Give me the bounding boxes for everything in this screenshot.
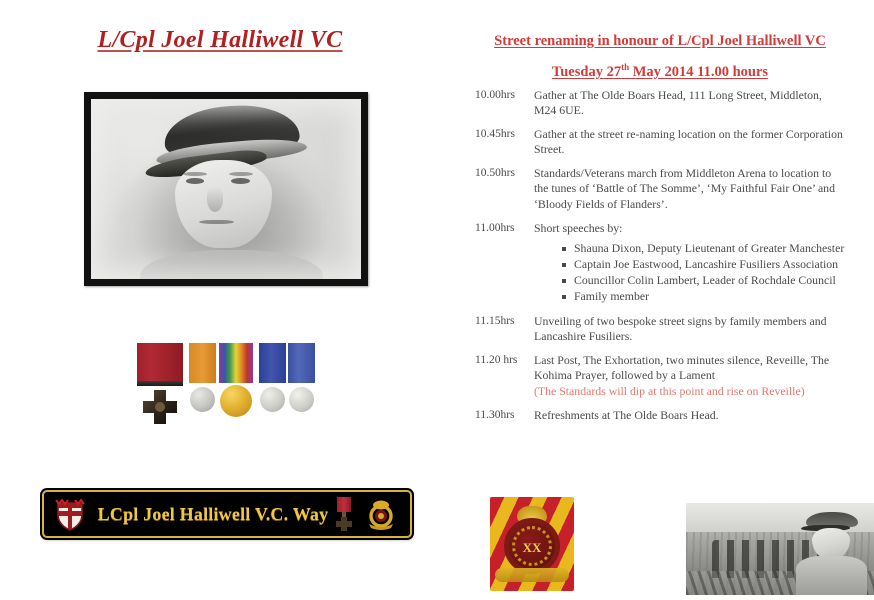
medal-disc	[190, 387, 215, 412]
left-column: L/Cpl Joel Halliwell VC	[0, 0, 460, 600]
photo-vignette	[91, 99, 361, 279]
street-sign: LCpl Joel Halliwell V.C. Way	[42, 490, 412, 538]
event-schedule: 10.00hrs Gather at The Olde Boars Head, …	[475, 88, 847, 432]
schedule-description: Gather at The Olde Boars Head, 111 Long …	[534, 88, 847, 118]
event-date-ordinal-suffix: th	[621, 62, 629, 72]
schedule-description: Refreshments at The Olde Boars Head.	[534, 408, 847, 423]
schedule-description: Short speeches by:	[534, 221, 622, 235]
page-title: L/Cpl Joel Halliwell VC	[0, 27, 440, 54]
vc-centre-shape	[155, 402, 165, 412]
street-sign-label: LCpl Joel Halliwell V.C. Way	[87, 504, 333, 525]
regiment-number-xx: XX	[490, 540, 574, 556]
middleton-coat-of-arms-icon	[53, 497, 87, 531]
medal-ribbon	[259, 343, 286, 383]
medal-disc	[260, 387, 285, 412]
soldier-face-shape	[812, 528, 850, 560]
medal-ribbon	[189, 343, 216, 383]
schedule-description-block: Short speeches by: Shauna Dixon, Deputy …	[534, 221, 847, 305]
right-column: Street renaming in honour of L/Cpl Joel …	[470, 0, 874, 600]
schedule-time: 10.00hrs	[475, 88, 534, 118]
victoria-cross-icon	[333, 496, 355, 532]
schedule-row: 11.30hrs Refreshments at The Olde Boars …	[475, 408, 847, 423]
vc-ribbon-icon	[337, 497, 351, 512]
vc-suspension-bar	[137, 381, 183, 386]
portrait-photo-frame	[84, 92, 368, 286]
portrait-photograph	[91, 99, 361, 279]
schedule-row-speeches: 11.00hrs Short speeches by: Shauna Dixon…	[475, 221, 847, 305]
scroll-banner-shape	[495, 568, 569, 582]
vc-cross-icon	[336, 517, 352, 531]
schedule-time: 10.45hrs	[475, 127, 534, 157]
schedule-time: 10.50hrs	[475, 166, 534, 211]
event-heading-primary: Street renaming in honour of L/Cpl Joel …	[470, 33, 850, 50]
list-item: Family member	[562, 289, 847, 304]
schedule-time: 11.15hrs	[475, 314, 534, 344]
schedule-row: 10.00hrs Gather at The Olde Boars Head, …	[475, 88, 847, 118]
event-heading-date: Tuesday 27th May 2014 11.00 hours	[470, 62, 850, 81]
medal-ribbon	[288, 343, 315, 383]
lancashire-fusiliers-badge-image: XX	[490, 497, 574, 591]
lancashire-fusiliers-badge-icon	[365, 498, 397, 530]
soldier-body-shape	[796, 556, 867, 595]
schedule-description: Gather at the street re-naming location …	[534, 127, 847, 157]
medal-group	[137, 343, 315, 450]
schedule-row-ceremony: 11.20 hrs Last Post, The Exhortation, tw…	[475, 353, 847, 398]
schedule-description: Standards/Veterans march from Middleton …	[534, 166, 847, 211]
event-date-suffix: May 2014 11.00 hours	[629, 64, 768, 80]
list-item: Captain Joe Eastwood, Lancashire Fusilie…	[562, 257, 847, 272]
schedule-row: 11.15hrs Unveiling of two bespoke street…	[475, 314, 847, 344]
wwi-battlefield-photograph	[686, 503, 874, 595]
schedule-row: 10.50hrs Standards/Veterans march from M…	[475, 166, 847, 211]
schedule-time: 11.30hrs	[475, 408, 534, 423]
medal-disc	[220, 385, 252, 417]
campaign-medal-silver-1	[189, 343, 216, 383]
victoria-cross-medal	[137, 343, 183, 381]
schedule-description: Last Post, The Exhortation, two minutes …	[534, 353, 829, 382]
schedule-description: Unveiling of two bespoke street signs by…	[534, 314, 847, 344]
campaign-medal-silver-2	[259, 343, 286, 383]
event-date-prefix: Tuesday 27	[552, 64, 621, 80]
soldier-portrait-overlay	[791, 507, 870, 595]
schedule-description-block: Last Post, The Exhortation, two minutes …	[534, 353, 847, 398]
vc-cross-shape	[143, 390, 177, 424]
speakers-list: Shauna Dixon, Deputy Lieutenant of Great…	[534, 241, 847, 304]
campaign-medal-silver-3	[288, 343, 315, 383]
schedule-note-standards: (The Standards will dip at this point an…	[534, 384, 847, 399]
schedule-time: 11.20 hrs	[475, 353, 534, 398]
vc-ribbon	[137, 343, 183, 381]
schedule-row: 10.45hrs Gather at the street re-naming …	[475, 127, 847, 157]
medal-disc	[289, 387, 314, 412]
schedule-time: 11.00hrs	[475, 221, 534, 305]
medal-ribbon	[219, 343, 253, 383]
victory-medal-gold	[219, 343, 253, 383]
list-item: Shauna Dixon, Deputy Lieutenant of Great…	[562, 241, 847, 256]
list-item: Councillor Colin Lambert, Leader of Roch…	[562, 273, 847, 288]
